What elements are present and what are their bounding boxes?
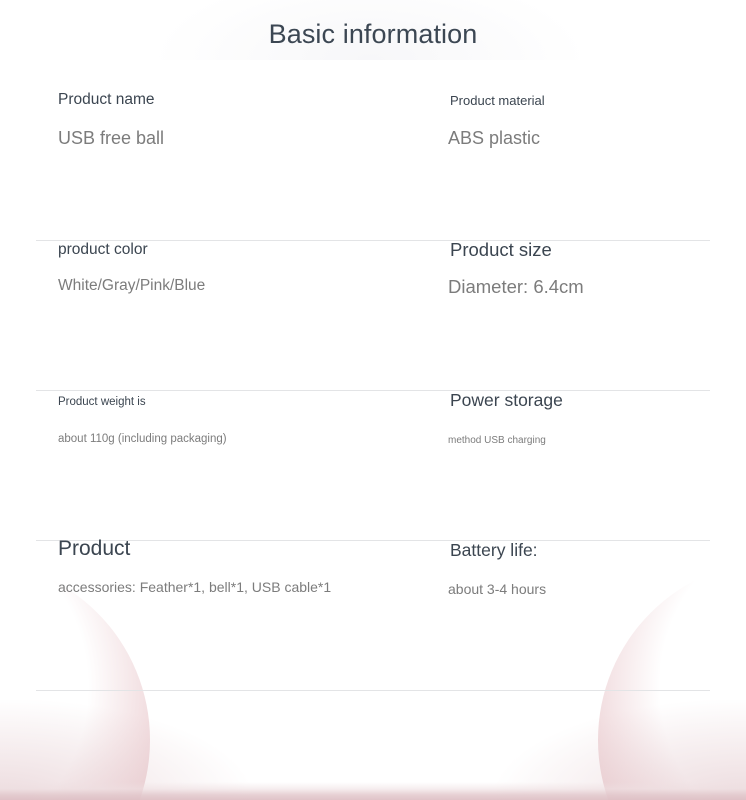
spec-label: Product size bbox=[450, 239, 552, 261]
spec-value: ABS plastic bbox=[448, 128, 540, 149]
background-edge-bottom-right bbox=[496, 700, 746, 800]
row-divider bbox=[36, 690, 710, 691]
spec-row-product-accessories: Product accessories: Feather*1, bell*1, … bbox=[36, 541, 710, 691]
spec-label: Product bbox=[58, 537, 130, 561]
spec-row-product-name: Product name USB free ball Product mater… bbox=[36, 91, 710, 241]
spec-label: Power storage bbox=[450, 390, 563, 411]
spec-label: product color bbox=[58, 241, 148, 259]
spec-value: method USB charging bbox=[448, 435, 546, 446]
spec-value: about 110g (including packaging) bbox=[58, 433, 227, 445]
spec-label: Product name bbox=[58, 91, 155, 109]
spec-label: Product weight is bbox=[58, 396, 146, 408]
spec-value: accessories: Feather*1, bell*1, USB cabl… bbox=[58, 579, 331, 595]
spec-row-product-weight: Product weight is about 110g (including … bbox=[36, 391, 710, 541]
spec-row-product-color: product color White/Gray/Pink/Blue Produ… bbox=[36, 241, 710, 391]
spec-value: USB free ball bbox=[58, 128, 164, 149]
spec-label: Product material bbox=[450, 93, 545, 108]
spec-label: Battery life: bbox=[450, 540, 538, 561]
background-band-bottom bbox=[0, 782, 746, 800]
spec-value: about 3-4 hours bbox=[448, 581, 546, 597]
spec-value: Diameter: 6.4cm bbox=[448, 276, 584, 298]
spec-value: White/Gray/Pink/Blue bbox=[58, 277, 205, 295]
product-spec-page: Basic information Product name USB free … bbox=[0, 0, 746, 800]
page-title: Basic information bbox=[0, 16, 746, 52]
background-edge-bottom-left bbox=[0, 700, 250, 800]
